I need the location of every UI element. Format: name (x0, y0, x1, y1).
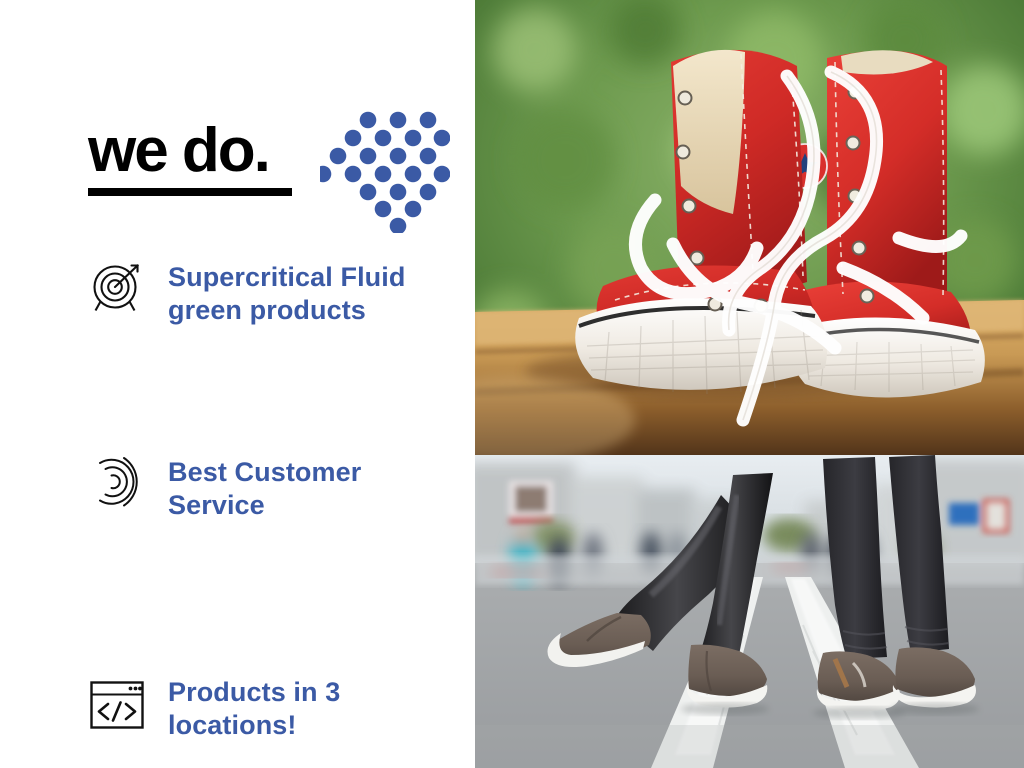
feature-line-2: locations! (168, 710, 297, 740)
feature-label-products-in-3-locations: Products in 3 locations! (168, 668, 340, 742)
heading-block: we do. (88, 108, 458, 233)
feature-line-1: Products in 3 (168, 677, 340, 707)
signal-waves-icon (88, 452, 146, 510)
feature-line-2: Service (168, 490, 265, 520)
left-content-panel: we do. (0, 0, 475, 768)
feature-line-2: green products (168, 295, 366, 325)
slide-root: we do. (0, 0, 1024, 768)
feature-item-supercritical-fluid: Supercritical Fluid green products (88, 258, 463, 327)
feature-label-supercritical-fluid: Supercritical Fluid green products (168, 258, 405, 327)
page-title: we do. (88, 120, 292, 182)
couple-crosswalk-sneakers-photo (475, 455, 1024, 768)
feature-line-1: Best Customer (168, 457, 361, 487)
title-underline (88, 188, 292, 196)
feature-label-best-customer-service: Best Customer Service (168, 452, 361, 522)
feature-line-1: Supercritical Fluid (168, 262, 405, 292)
page-title-wrap: we do. (88, 120, 292, 196)
red-high-top-sneakers-photo (475, 0, 1024, 455)
feature-item-products-in-3-locations: Products in 3 locations! (88, 668, 463, 742)
code-browser-window-icon (88, 676, 146, 734)
image-column (475, 0, 1024, 768)
target-bullseye-icon (88, 258, 146, 316)
dot-triangle-logo-icon (320, 108, 450, 233)
feature-item-best-customer-service: Best Customer Service (88, 452, 463, 522)
